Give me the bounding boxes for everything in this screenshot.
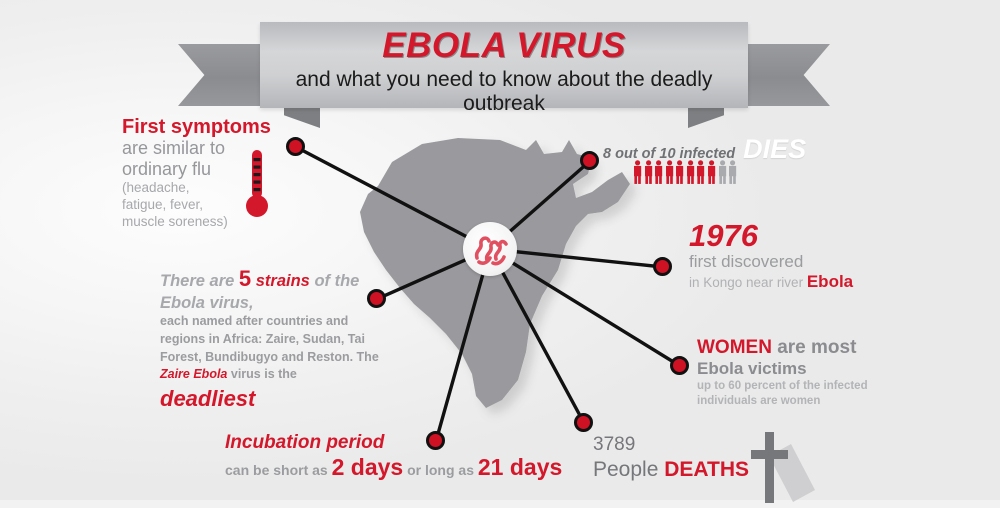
incubation-short-label: can be short as [225,462,328,478]
person-icon-infected [675,160,684,184]
person-icon-survivor [728,160,737,184]
women-subheading: Ebola victims [697,359,937,379]
women-heading: WOMEN are most [697,337,937,359]
ebola-virus-icon [463,222,517,276]
symptoms-heading: First symptoms [122,116,282,138]
thermometer-icon [242,148,272,220]
person-icon-survivor [718,160,727,184]
person-icon-infected [686,160,695,184]
strains-lead-a: There are [160,272,234,290]
strains-body-e: virus is the [231,367,297,381]
deaths-word: DEATHS [664,458,749,481]
discovery-block: 1976 first discovered in Kongo near rive… [689,220,899,292]
connector-dot-symptoms[interactable] [286,137,305,156]
strains-zaire-em: Zaire Ebola [160,367,227,381]
person-icon-infected [633,160,642,184]
strains-lead-c: of the [314,272,359,290]
incubation-range: can be short as 2 days or long as 21 day… [225,454,555,481]
incubation-long-label: or long as [407,462,474,478]
strains-lead-d: Ebola virus, [160,294,254,312]
women-heading-gray: are most [777,337,856,358]
cross-icon [745,428,835,503]
connector-dot-deaths[interactable] [574,413,593,432]
women-detail1: up to 60 percent of the infected [697,379,937,395]
discovery-line1: first discovered [689,252,899,272]
strains-body-d: Reston. The [307,350,379,364]
women-heading-red: WOMEN [697,337,772,358]
incubation-block: Incubation period can be short as 2 days… [225,432,555,481]
person-icon-infected [707,160,716,184]
infographic-canvas: EBOLA VIRUS and what you need to know ab… [0,0,1000,500]
connector-dot-1976[interactable] [653,257,672,276]
discovery-year: 1976 [689,220,899,252]
person-icon-infected [696,160,705,184]
women-block: WOMEN are most Ebola victims up to 60 pe… [697,337,937,410]
mortality-dies-word: DIES [743,134,806,164]
banner-plate: EBOLA VIRUS and what you need to know ab… [260,22,748,108]
mortality-people-icons [633,160,737,184]
incubation-long-value: 21 days [478,454,562,480]
strains-body-a: each named after [160,314,263,328]
discovery-river: Ebola [807,272,853,291]
incubation-heading: Incubation period [225,432,555,454]
deaths-people-label: People [593,458,658,481]
page-title: EBOLA VIRUS [260,26,748,66]
discovery-location: in Kongo near river [689,275,803,290]
person-icon-infected [654,160,663,184]
incubation-short-value: 2 days [332,454,404,480]
connector-dot-women[interactable] [670,356,689,375]
person-icon-infected [665,160,674,184]
strains-deadliest: deadliest [160,386,390,412]
strains-word: strains [256,272,310,290]
women-detail2: individuals are women [697,394,937,410]
page-subtitle: and what you need to know about the dead… [260,68,748,116]
strains-lead: There are 5 strains of the Ebola virus, [160,265,390,313]
banner: EBOLA VIRUS and what you need to know ab… [178,22,830,110]
person-icon-infected [644,160,653,184]
connector-dot-dies[interactable] [580,151,599,170]
strains-block: There are 5 strains of the Ebola virus, … [160,265,390,412]
discovery-line2: in Kongo near river Ebola [689,272,899,292]
strains-body: each named after countries and regions i… [160,313,390,384]
strains-count: 5 [239,266,251,291]
